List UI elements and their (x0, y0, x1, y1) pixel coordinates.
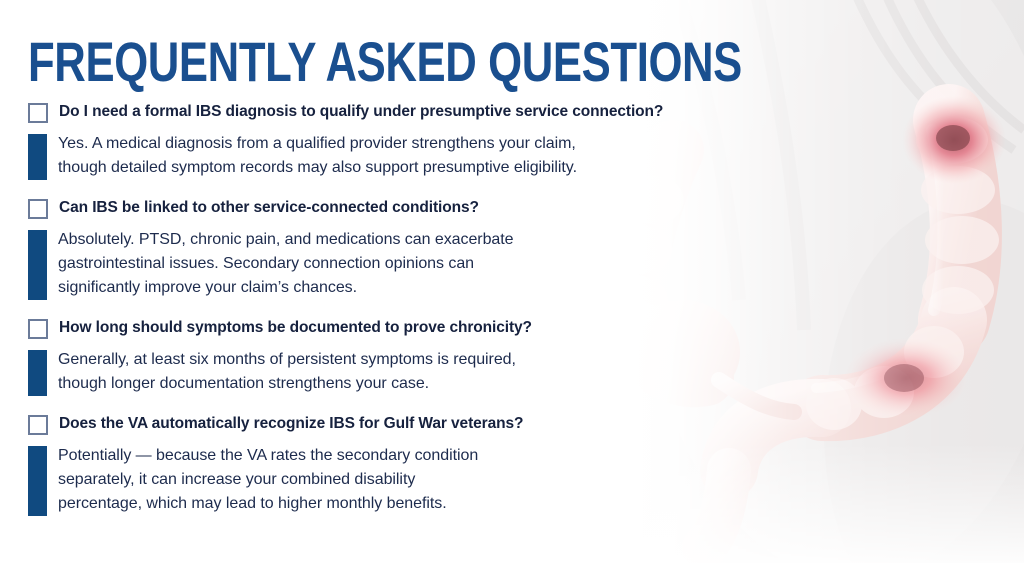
faq-answer-row: Absolutely. PTSD, chronic pain, and medi… (0, 228, 780, 300)
faq-answer-line: though longer documentation strengthens … (58, 372, 516, 396)
checkbox-square-icon[interactable] (28, 199, 48, 219)
faq-answer-row: Potentially — because the VA rates the s… (0, 444, 780, 516)
faq-answer-text: Absolutely. PTSD, chronic pain, and medi… (58, 228, 514, 300)
faq-list: Do I need a formal IBS diagnosis to qual… (0, 102, 780, 534)
faq-question-text: Do I need a formal IBS diagnosis to qual… (59, 102, 663, 122)
faq-content: FREQUENTLY ASKED QUESTIONS Do I need a f… (0, 0, 780, 563)
faq-question-row[interactable]: Do I need a formal IBS diagnosis to qual… (0, 102, 780, 123)
faq-answer-line: though detailed symptom records may also… (58, 156, 577, 180)
faq-question-row[interactable]: How long should symptoms be documented t… (0, 318, 780, 339)
faq-item[interactable]: How long should symptoms be documented t… (0, 318, 780, 396)
checkbox-square-icon[interactable] (28, 103, 48, 123)
faq-question-row[interactable]: Does the VA automatically recognize IBS … (0, 414, 780, 435)
faq-answer-line: significantly improve your claim’s chanc… (58, 276, 514, 300)
faq-answer-line: Potentially — because the VA rates the s… (58, 444, 478, 468)
faq-infographic: FREQUENTLY ASKED QUESTIONS Do I need a f… (0, 0, 1024, 563)
checkbox-square-icon[interactable] (28, 319, 48, 339)
faq-question-text: How long should symptoms be documented t… (59, 318, 532, 338)
faq-answer-text: Generally, at least six months of persis… (58, 348, 516, 396)
faq-answer-text: Yes. A medical diagnosis from a qualifie… (58, 132, 577, 180)
faq-answer-line: Generally, at least six months of persis… (58, 348, 516, 372)
answer-accent-bar (28, 350, 47, 396)
faq-answer-text: Potentially — because the VA rates the s… (58, 444, 478, 516)
faq-answer-line: Absolutely. PTSD, chronic pain, and medi… (58, 228, 514, 252)
checkbox-square-icon[interactable] (28, 415, 48, 435)
faq-answer-line: percentage, which may lead to higher mon… (58, 492, 478, 516)
faq-item[interactable]: Can IBS be linked to other service-conne… (0, 198, 780, 300)
answer-accent-bar (28, 446, 47, 516)
faq-answer-line: gastrointestinal issues. Secondary conne… (58, 252, 514, 276)
faq-answer-line: separately, it can increase your combine… (58, 468, 478, 492)
page-title: FREQUENTLY ASKED QUESTIONS (28, 34, 742, 90)
faq-answer-line: Yes. A medical diagnosis from a qualifie… (58, 132, 577, 156)
faq-question-text: Can IBS be linked to other service-conne… (59, 198, 479, 218)
faq-question-row[interactable]: Can IBS be linked to other service-conne… (0, 198, 780, 219)
faq-item[interactable]: Does the VA automatically recognize IBS … (0, 414, 780, 516)
answer-accent-bar (28, 134, 47, 180)
faq-answer-row: Yes. A medical diagnosis from a qualifie… (0, 132, 780, 180)
faq-question-text: Does the VA automatically recognize IBS … (59, 414, 523, 434)
answer-accent-bar (28, 230, 47, 300)
faq-answer-row: Generally, at least six months of persis… (0, 348, 780, 396)
faq-item[interactable]: Do I need a formal IBS diagnosis to qual… (0, 102, 780, 180)
